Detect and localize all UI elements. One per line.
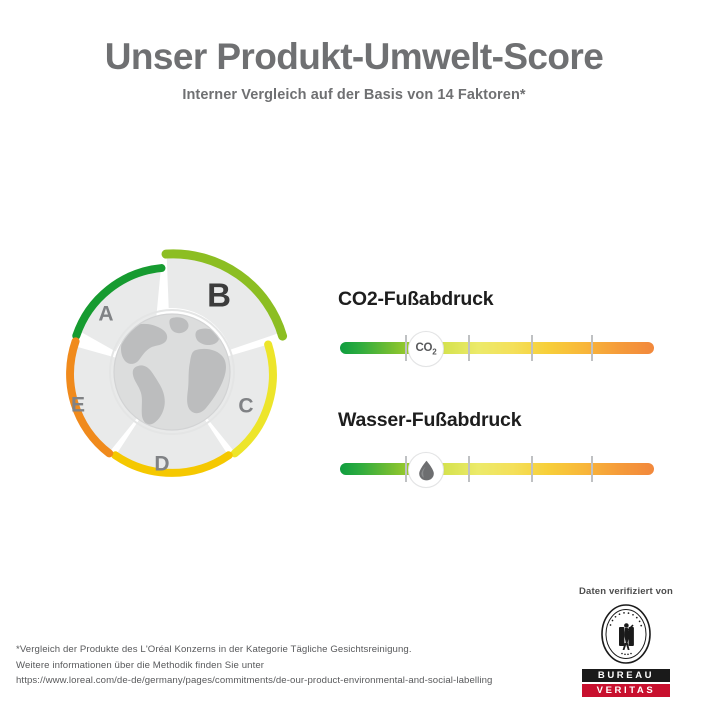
water-drop-icon bbox=[418, 460, 435, 481]
grade-label-e: E bbox=[71, 394, 85, 417]
water-tick-1 bbox=[405, 456, 407, 482]
co2-score-marker[interactable]: CO2 bbox=[408, 331, 444, 367]
veritas-wordmark-line: VERITAS bbox=[582, 684, 670, 697]
grade-label-a: A bbox=[98, 303, 113, 326]
bureau-wordmark-line: BUREAU bbox=[582, 669, 670, 682]
co2-tick-1 bbox=[405, 335, 407, 361]
co2-gradient-bar bbox=[340, 342, 654, 354]
co2-tick-4 bbox=[591, 335, 593, 361]
page-subtitle: Interner Vergleich auf der Basis von 14 … bbox=[0, 87, 708, 103]
grade-label-d: D bbox=[154, 453, 169, 476]
water-tick-3 bbox=[531, 456, 533, 482]
water-gradient-bar bbox=[340, 463, 654, 475]
bureau-veritas-wordmark: BUREAU VERITAS bbox=[582, 669, 670, 697]
water-footprint-block: Wasser-Fußabdruck bbox=[336, 409, 666, 486]
score-wheel: A B C D E bbox=[38, 238, 306, 506]
co2-footprint-title: CO2-Fußabdruck bbox=[338, 288, 666, 311]
footnote-line-2: Weitere informationen über die Methodik … bbox=[16, 658, 576, 674]
water-footprint-scale bbox=[336, 452, 666, 486]
verification-block: Daten verifiziert von bbox=[556, 586, 696, 697]
co2-footprint-scale: CO2 bbox=[336, 331, 666, 365]
co2-icon: CO2 bbox=[415, 342, 436, 356]
bureau-veritas-logo: BUREAU VERITAS bbox=[556, 603, 696, 697]
bureau-veritas-emblem-icon bbox=[600, 603, 652, 665]
page-title: Unser Produkt-Umwelt-Score bbox=[0, 38, 708, 77]
water-tick-4 bbox=[591, 456, 593, 482]
product-environmental-score-infographic: Unser Produkt-Umwelt-Score Interner Verg… bbox=[0, 0, 708, 708]
water-footprint-title: Wasser-Fußabdruck bbox=[338, 409, 666, 432]
verification-label: Daten verifiziert von bbox=[556, 586, 696, 597]
grade-label-c: C bbox=[238, 395, 253, 418]
grade-label-b: B bbox=[207, 277, 231, 314]
footprint-panel: CO2-Fußabdruck CO2 Wasser-Fußabdruck bbox=[336, 288, 666, 486]
header: Unser Produkt-Umwelt-Score Interner Verg… bbox=[0, 38, 708, 103]
footnote: *Vergleich der Produkte des L'Oréal Konz… bbox=[16, 642, 576, 689]
water-tick-2 bbox=[468, 456, 470, 482]
footnote-line-1: *Vergleich der Produkte des L'Oréal Konz… bbox=[16, 642, 576, 658]
footnote-line-3[interactable]: https://www.loreal.com/de-de/germany/pag… bbox=[16, 673, 576, 689]
co2-footprint-block: CO2-Fußabdruck CO2 bbox=[336, 288, 666, 365]
water-score-marker[interactable] bbox=[408, 452, 444, 488]
co2-tick-2 bbox=[468, 335, 470, 361]
co2-tick-3 bbox=[531, 335, 533, 361]
